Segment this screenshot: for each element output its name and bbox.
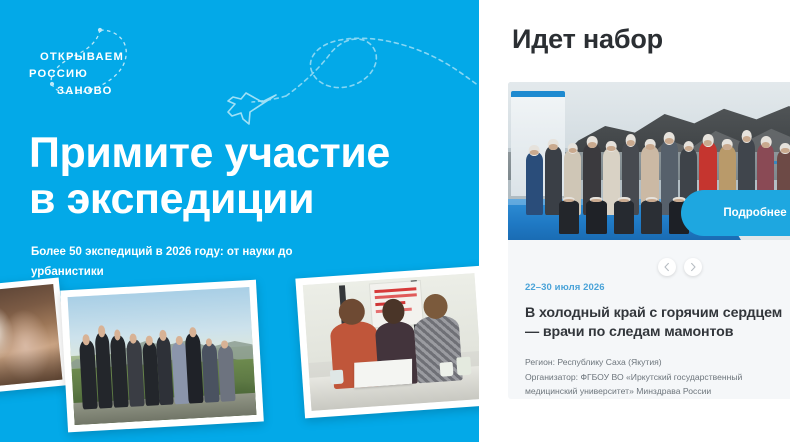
carousel-controls (658, 258, 714, 276)
expedition-date: 22–30 июля 2026 (525, 282, 790, 293)
hero-title-line-2: в экспедиции (29, 175, 314, 223)
promo-banner: ОТКРЫВАЕМ РОССИЮ ЗАНОВО Примите участие … (0, 0, 790, 442)
recruitment-heading: Идет набор (512, 24, 663, 55)
hero-panel: ОТКРЫВАЕМ РОССИЮ ЗАНОВО Примите участие … (0, 0, 479, 442)
hero-photo-indoor-image (0, 284, 62, 388)
expedition-region: Регион: Республику Саха (Якутия) (525, 355, 790, 370)
details-button[interactable]: Подробнее (681, 190, 790, 236)
logo-line-3: ЗАНОВО (57, 86, 113, 97)
hero-photo-group-mountain (60, 280, 264, 433)
recruitment-panel: Идет набор (479, 0, 790, 442)
expedition-organizer-line-1: Организатор: ФГБОУ ВО «Иркутский государ… (525, 370, 790, 385)
carousel-next-button[interactable] (684, 258, 702, 276)
airplane-icon (228, 93, 276, 124)
expedition-card-body: 22–30 июля 2026 В холодный край с горячи… (508, 282, 790, 399)
chevron-left-icon (662, 262, 672, 272)
hero-photo-indoor (0, 277, 69, 394)
hero-photo-group-mountain-image (68, 287, 257, 425)
expedition-title: В холодный край с горячим сердцем — врач… (525, 304, 790, 342)
logo-line-1: ОТКРЫВАЕМ (40, 52, 124, 63)
hero-title: Примите участие в экспедиции (29, 131, 469, 222)
expedition-organizer-line-2: медицинский университет» Минздрава Росси… (525, 384, 790, 399)
carousel-prev-button[interactable] (658, 258, 676, 276)
chevron-right-icon (688, 262, 698, 272)
brand-logo[interactable]: ОТКРЫВАЕМ РОССИЮ ЗАНОВО (26, 22, 166, 108)
expedition-card[interactable]: Подробнее 22–30 июля 2026 В холодный кра… (508, 82, 790, 399)
hero-photo-workshop-image (303, 273, 479, 411)
expedition-card-photo: Подробнее (508, 82, 790, 240)
hero-title-line-1: Примите участие (29, 129, 390, 177)
hero-photo-workshop (295, 266, 479, 419)
logo-wordmark: ОТКРЫВАЕМ РОССИЮ ЗАНОВО (26, 22, 166, 108)
logo-line-2: РОССИЮ (29, 69, 88, 80)
expedition-meta: Регион: Республику Саха (Якутия) Организ… (525, 355, 790, 399)
